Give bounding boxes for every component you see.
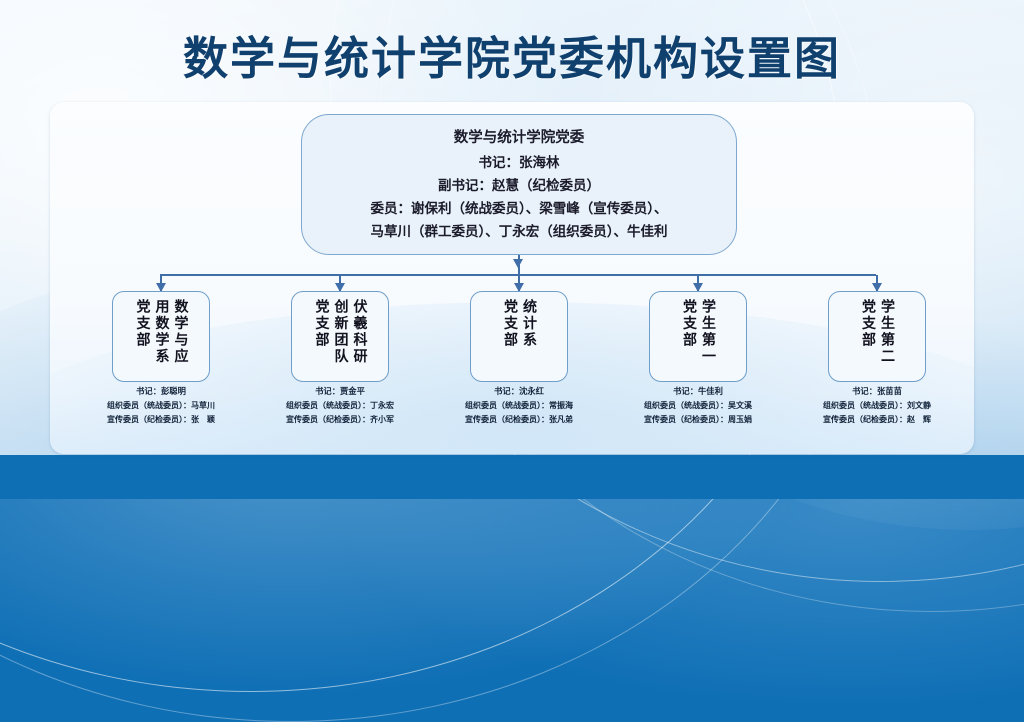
branch-1-secretary: 书记：彭聪明 [63,385,259,399]
branch-4-organization-member: 组织委员（统战委员）：吴文溪 [600,399,796,413]
branch-node-4[interactable]: 学生第一 党支部 [649,291,747,382]
branch-roster-5: 书记：张苗苗 组织委员（统战委员）：刘文静 宣传委员（纪检委员）：赵 辉 [779,385,975,427]
branch-node-1-col-1: 数学与应 [172,299,189,365]
page-title: 数学与统计学院党委机构设置图 [0,22,1024,87]
root-node-line-4: 马草川（群工委员）、丁永宏（组织委员）、牛佳利 [371,220,668,243]
branch-node-5-col-2: 党支部 [859,299,876,349]
branch-roster-3: 书记：沈永红 组织委员（统战委员）：常振海 宣传委员（纪检委员）：张凡弟 [421,385,617,427]
branch-node-2-col-3: 党支部 [313,299,330,349]
branch-1-organization-member: 组织委员（统战委员）：马草川 [63,399,259,413]
branch-node-5-col-1: 学生第二 [878,299,895,365]
branch-4-propaganda-member: 宣传委员（纪检委员）：周玉娟 [600,413,796,427]
branch-3-organization-member: 组织委员（统战委员）：常振海 [421,399,617,413]
root-node-title: 数学与统计学院党委 [454,127,585,150]
branch-node-3-col-1: 统计系 [520,299,537,349]
branch-node-3[interactable]: 统计系 党支部 [470,291,568,382]
branch-node-2-col-2: 创新团队 [332,299,349,365]
branch-node-2[interactable]: 伏羲科研 创新团队 党支部 [291,291,389,382]
branch-5-organization-member: 组织委员（统战委员）：刘文静 [779,399,975,413]
root-node-party-committee[interactable]: 数学与统计学院党委 书记：张海林 副书记：赵慧（纪检委员） 委员：谢保利（统战委… [301,114,737,255]
background-bottom-band [0,455,1024,499]
root-node-line-3: 委员：谢保利（统战委员）、梁雪峰（宣传委员）、 [371,197,668,220]
branch-roster-4: 书记：牛佳利 组织委员（统战委员）：吴文溪 宣传委员（纪检委员）：周玉娟 [600,385,796,427]
connector-root-arrowhead [513,259,523,268]
branch-2-organization-member: 组织委员（统战委员）：丁永宏 [242,399,438,413]
root-node-line-2: 副书记：赵慧（纪检委员） [438,174,600,197]
branch-node-1-col-3: 党支部 [134,299,151,349]
branch-node-1-col-2: 用数学系 [153,299,170,365]
branch-node-4-col-2: 党支部 [680,299,697,349]
branch-roster-1: 书记：彭聪明 组织委员（统战委员）：马草川 宣传委员（纪检委员）：张 颖 [63,385,259,427]
branch-node-1[interactable]: 数学与应 用数学系 党支部 [112,291,210,382]
branch-5-secretary: 书记：张苗苗 [779,385,975,399]
branch-node-3-col-2: 党支部 [501,299,518,349]
branch-5-propaganda-member: 宣传委员（纪检委员）：赵 辉 [779,413,975,427]
branch-3-secretary: 书记：沈永红 [421,385,617,399]
branch-2-propaganda-member: 宣传委员（纪检委员）：齐小军 [242,413,438,427]
branch-3-propaganda-member: 宣传委员（纪检委员）：张凡弟 [421,413,617,427]
branch-roster-2: 书记：贾金平 组织委员（统战委员）：丁永宏 宣传委员（纪检委员）：齐小军 [242,385,438,427]
branch-node-5[interactable]: 学生第二 党支部 [828,291,926,382]
branch-node-2-col-1: 伏羲科研 [351,299,368,365]
root-node-line-1: 书记：张海林 [479,151,560,174]
branch-1-propaganda-member: 宣传委员（纪检委员）：张 颖 [63,413,259,427]
branch-node-4-col-1: 学生第一 [699,299,716,365]
branch-2-secretary: 书记：贾金平 [242,385,438,399]
branch-4-secretary: 书记：牛佳利 [600,385,796,399]
